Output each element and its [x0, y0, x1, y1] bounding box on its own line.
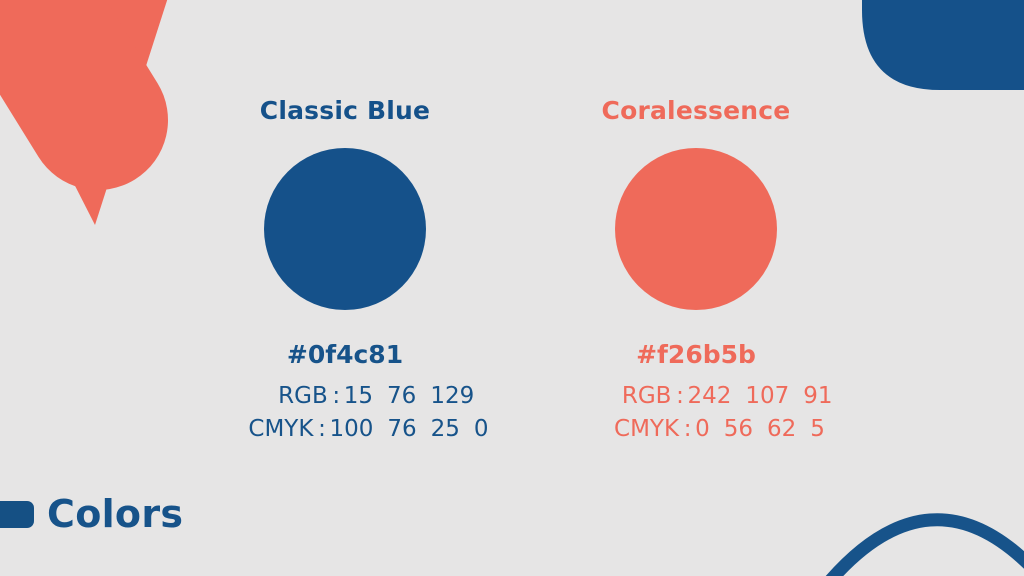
spec-row-rgb: RGB : 15 76 129 [201, 382, 488, 411]
spec-separator: : [683, 415, 692, 444]
spec-values: 15 76 129 [341, 382, 474, 411]
spec-row-rgb: RGB : 242 107 91 [559, 382, 832, 411]
swatch-color-circle [615, 148, 777, 310]
spec-label: RGB [216, 382, 332, 411]
spec-value: 242 [687, 382, 731, 411]
swatch-color-circle [264, 148, 426, 310]
spec-value: 5 [810, 415, 825, 444]
swatch-specs: RGB : 242 107 91 CMYK : 0 56 62 5 [559, 382, 832, 444]
spec-label: RGB [559, 382, 675, 411]
spec-value: 15 [344, 382, 373, 411]
swatch-hex-code: #0f4c81 [287, 342, 403, 367]
spec-label: CMYK [201, 415, 317, 444]
swatch-columns: Classic Blue #0f4c81 RGB : 15 76 129 CMY… [0, 0, 1024, 576]
spec-value: 100 [329, 415, 373, 444]
swatch-specs: RGB : 15 76 129 CMYK : 100 76 25 0 [201, 382, 488, 444]
spec-value: 91 [803, 382, 832, 411]
spec-row-cmyk: CMYK : 100 76 25 0 [201, 415, 488, 444]
swatch-coralessence: Coralessence #f26b5b RGB : 242 107 91 CM… [526, 98, 866, 444]
footer-marker-square [0, 501, 34, 528]
spec-label: CMYK [567, 415, 683, 444]
slide-footer: Colors [0, 495, 183, 533]
page-title: Colors [47, 495, 183, 533]
spec-values: 0 56 62 5 [692, 415, 825, 444]
spec-separator: : [332, 382, 341, 411]
swatch-classic-blue: Classic Blue #0f4c81 RGB : 15 76 129 CMY… [175, 98, 515, 444]
spec-value: 129 [430, 382, 474, 411]
spec-value: 76 [387, 415, 416, 444]
color-palette-slide: Classic Blue #0f4c81 RGB : 15 76 129 CMY… [0, 0, 1024, 576]
spec-value: 62 [767, 415, 796, 444]
swatch-name: Coralessence [602, 98, 791, 123]
spec-value: 76 [387, 382, 416, 411]
spec-separator: : [317, 415, 326, 444]
spec-values: 242 107 91 [684, 382, 832, 411]
spec-value: 25 [431, 415, 460, 444]
spec-value: 56 [724, 415, 753, 444]
swatch-name: Classic Blue [260, 98, 430, 123]
spec-value: 0 [695, 415, 710, 444]
swatch-hex-code: #f26b5b [636, 342, 756, 367]
spec-value: 107 [745, 382, 789, 411]
spec-separator: : [675, 382, 684, 411]
spec-row-cmyk: CMYK : 0 56 62 5 [559, 415, 832, 444]
spec-values: 100 76 25 0 [326, 415, 488, 444]
spec-value: 0 [474, 415, 489, 444]
